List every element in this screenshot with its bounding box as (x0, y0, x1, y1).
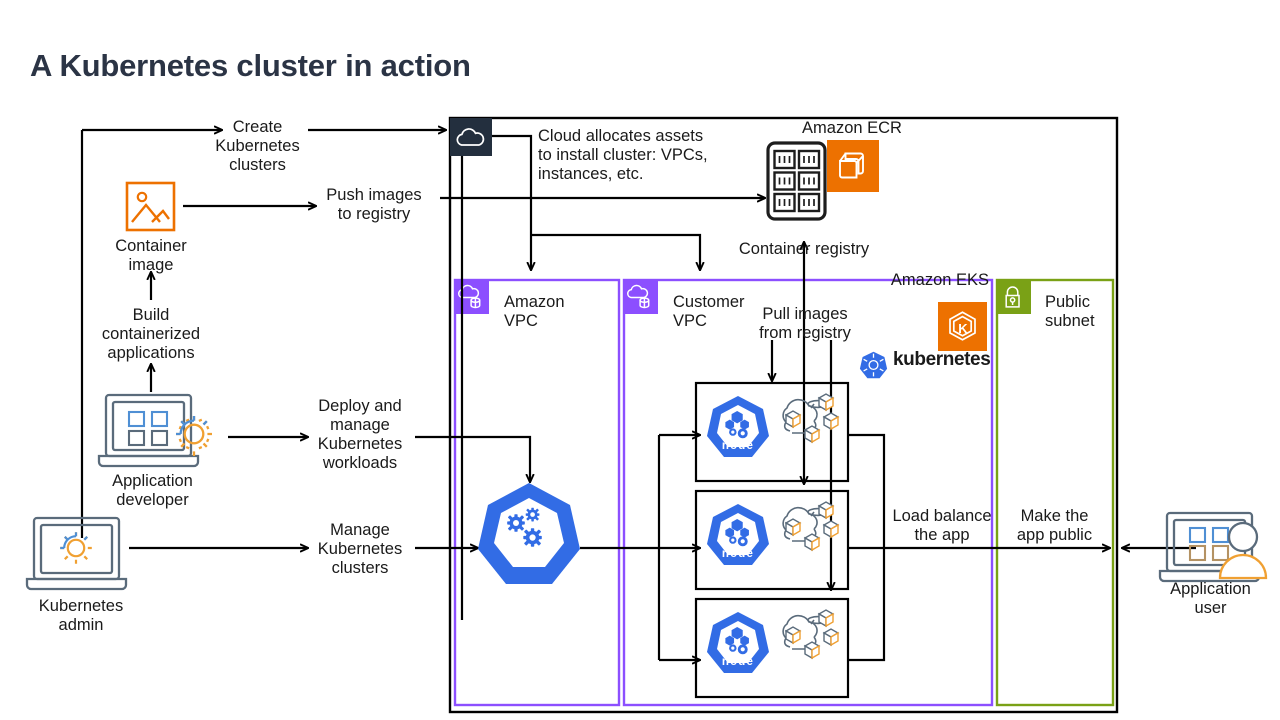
svg-text:node: node (722, 548, 754, 560)
registry-grid-icon (768, 143, 825, 219)
svg-text:node: node (722, 440, 754, 452)
customer-vpc-box (624, 280, 992, 705)
application-user-label: Application user (1158, 580, 1263, 618)
flow-label-make-public: Make the app public (1002, 507, 1107, 545)
flow-label-build-apps: Build containerized applications (92, 306, 210, 363)
amazon-ecr-label: Amazon ECR (802, 119, 902, 138)
pods-cloud-icon-1 (783, 394, 838, 442)
container-registry-label: Container registry (738, 240, 870, 259)
flow-label-push-images: Push images to registry (315, 186, 433, 224)
cloud-allocation-arrows (82, 130, 1196, 660)
container-image-icon (127, 183, 174, 230)
eks-hexagon-icon: K (938, 302, 987, 351)
ecr-cube-icon (827, 140, 879, 192)
user-avatar-icon (1220, 523, 1266, 578)
container-image-label: Container image (100, 237, 202, 275)
flow-label-load-balance: Load balance the app (888, 507, 996, 545)
k8s-control-plane-icon (478, 483, 580, 584)
flow-label-create-clusters: Create Kubernetes clusters (205, 118, 310, 175)
flow-label-pull-images: Pull images from registry (749, 305, 861, 343)
laptop-gear-icon-developer (99, 395, 212, 466)
pods-cloud-icon-2 (783, 502, 838, 550)
amazon-vpc-label: Amazon VPC (504, 293, 604, 331)
diagram-canvas: A Kubernetes cluster in action (0, 0, 1280, 720)
flow-label-cloud-allocates: Cloud allocates assets to install cluste… (538, 127, 743, 184)
kubernetes-helm-icon (860, 352, 887, 379)
laptop-gear-icon-admin (27, 518, 126, 589)
gear-icon (60, 532, 92, 564)
public-subnet-label: Public subnet (1045, 293, 1125, 331)
svg-text:K: K (958, 321, 968, 336)
amazon-eks-label: Amazon EKS (890, 271, 990, 290)
flow-label-deploy-manage: Deploy and manage Kubernetes workloads (306, 397, 414, 474)
flow-label-manage-clusters: Manage Kubernetes clusters (306, 521, 414, 578)
application-developer-label: Application developer (100, 472, 205, 510)
k8s-node-icon-1: node (707, 396, 769, 457)
public-subnet-box (997, 280, 1113, 705)
svg-text:node: node (722, 656, 754, 668)
k8s-node-icon-2: node (707, 504, 769, 565)
k8s-node-icon-3: node (707, 612, 769, 673)
kubernetes-admin-label: Kubernetes admin (25, 597, 137, 635)
pods-cloud-icon-3 (783, 610, 838, 658)
kubernetes-logo-text: kubernetes (893, 349, 993, 371)
